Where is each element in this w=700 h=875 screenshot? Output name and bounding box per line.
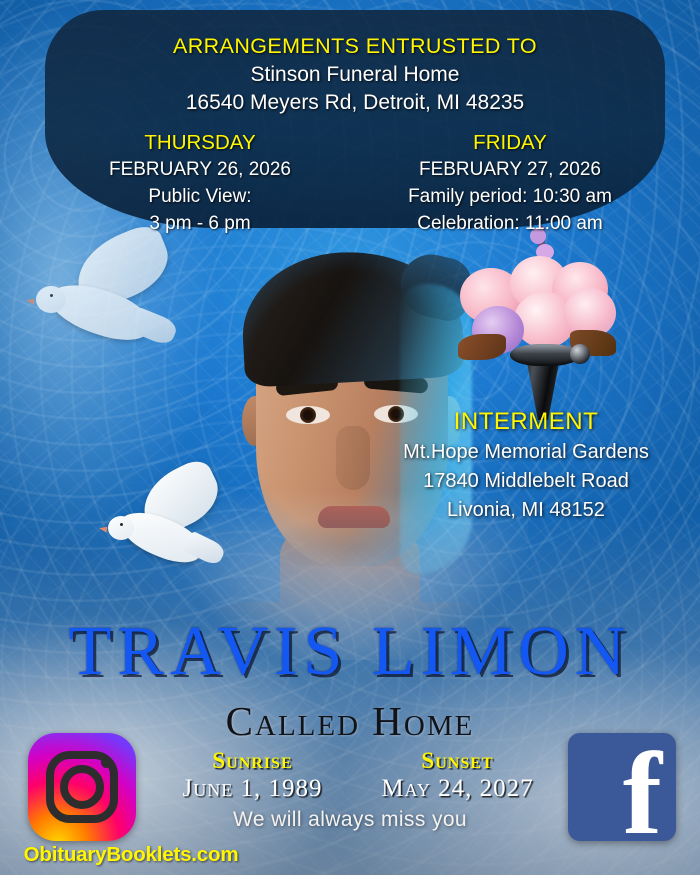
sunrise-label: Sunrise [150,748,355,774]
flower-foliage [458,334,506,360]
service-schedule: THURSDAY FEBRUARY 26, 2026 Public View: … [45,114,665,235]
facebook-f-glyph: f [623,747,662,841]
life-dates: Sunrise June 1, 1989 Sunset May 24, 2027 [150,748,560,803]
sunrise-date: June 1, 1989 [150,774,355,803]
service-date: FEBRUARY 26, 2026 [45,155,355,182]
service-column-thursday: THURSDAY FEBRUARY 26, 2026 Public View: … [45,131,355,235]
dove-head [36,286,66,313]
service-column-friday: FRIDAY FEBRUARY 27, 2026 Family period: … [355,131,665,235]
dove-tail [129,307,180,348]
interment-street: 17840 Middlebelt Road [352,465,700,494]
interment-place: Mt.Hope Memorial Gardens [352,436,700,465]
brand-watermark[interactable]: ObituaryBooklets.com [0,843,262,867]
service-detail-1: Family period: 10:30 am [355,182,665,209]
dove-eye [120,523,123,526]
sunset-date: May 24, 2027 [355,774,560,803]
arrangements-panel: ARRANGEMENTS ENTRUSTED TO Stinson Funera… [45,10,665,228]
dove-beak [99,525,108,532]
service-date: FEBRUARY 27, 2026 [355,155,665,182]
flower-vase-icon [452,226,638,418]
instagram-lens [60,765,104,809]
dove-head [108,516,134,540]
service-detail-2: Celebration: 11:00 am [355,209,665,236]
funeral-home-name: Stinson Funeral Home [45,58,665,87]
service-detail-2: 3 pm - 6 pm [45,209,355,236]
memorial-poster: ARRANGEMENTS ENTRUSTED TO Stinson Funera… [0,0,700,875]
deceased-name: TRAVIS LIMON [0,612,700,692]
facebook-icon[interactable]: f [568,733,676,841]
interment-block: INTERMENT Mt.Hope Memorial Gardens 17840… [352,408,700,523]
service-detail-1: Public View: [45,182,355,209]
vase-knob [570,344,590,364]
sunrise-column: Sunrise June 1, 1989 [150,748,355,803]
dove-icon [14,240,174,370]
service-day: FRIDAY [355,131,665,155]
sunset-label: Sunset [355,748,560,774]
sunset-column: Sunset May 24, 2027 [355,748,560,803]
service-day: THURSDAY [45,131,355,155]
interment-title: INTERMENT [352,408,700,436]
dove-eye [50,294,53,297]
interment-city: Livonia, MI 48152 [352,494,700,523]
funeral-home-address: 16540 Meyers Rd, Detroit, MI 48235 [45,87,665,115]
dove-beak [26,297,35,304]
instagram-dot [101,757,112,768]
arrangements-title: ARRANGEMENTS ENTRUSTED TO [45,10,665,58]
dove-icon [92,472,220,588]
instagram-icon[interactable] [28,733,136,841]
portrait-eye-left [286,406,330,424]
